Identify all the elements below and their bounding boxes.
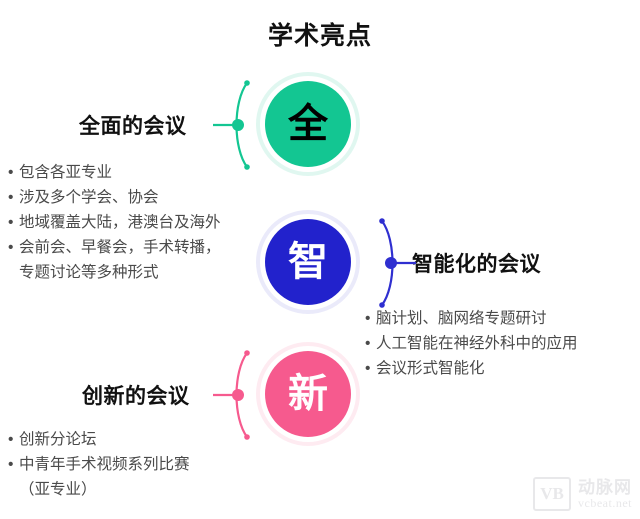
list-item-text: 地域覆盖大陆，港澳台及海外 bbox=[19, 214, 221, 231]
bullet-dot: • bbox=[8, 185, 19, 210]
list-item-text: 会前会、早餐会，手术转播， bbox=[19, 239, 221, 256]
bullet-list-innovative: •创新分论坛 •中青年手术视频系列比赛 （亚专业） bbox=[8, 427, 190, 502]
bullet-dot: • bbox=[8, 452, 19, 477]
section-label-innovative: 创新的会议 bbox=[82, 380, 190, 410]
watermark-brand-url: vcbeat.net bbox=[578, 497, 632, 510]
page-title: 学术亮点 bbox=[0, 16, 640, 52]
watermark-logo-icon: VB bbox=[533, 477, 571, 511]
list-item: •创新分论坛 bbox=[8, 427, 190, 452]
list-item-continuation: 专题讨论等多种形式 bbox=[8, 260, 221, 285]
list-item: •涉及多个学会、协会 bbox=[8, 185, 221, 210]
list-item-text: 创新分论坛 bbox=[19, 431, 97, 448]
list-item: •会议形式智能化 bbox=[365, 356, 578, 381]
list-item-text: 包含各亚专业 bbox=[19, 164, 112, 181]
infographic-canvas: 学术亮点 全 全面的会议 •包含各亚专业 •涉及多个学会、协会 •地域覆盖大陆，… bbox=[0, 0, 640, 519]
badge-glyph-intelligent: 智 bbox=[288, 242, 328, 282]
bullet-dot: • bbox=[365, 356, 376, 381]
badge-intelligent[interactable]: 智 bbox=[265, 219, 351, 305]
list-item-text: 中青年手术视频系列比赛 bbox=[19, 456, 190, 473]
bullet-dot: • bbox=[8, 235, 19, 260]
bullet-dot: • bbox=[365, 331, 376, 356]
bullet-list-intelligent: •脑计划、脑网络专题研讨 •人工智能在神经外科中的应用 •会议形式智能化 bbox=[365, 306, 578, 381]
badge-glyph-comprehensive: 全 bbox=[288, 104, 328, 144]
connector-innovative bbox=[213, 342, 271, 448]
list-item: •人工智能在神经外科中的应用 bbox=[365, 331, 578, 356]
list-item-text: 人工智能在神经外科中的应用 bbox=[376, 335, 578, 352]
connector-intelligent bbox=[358, 210, 416, 316]
list-item: •中青年手术视频系列比赛 bbox=[8, 452, 190, 477]
section-label-intelligent: 智能化的会议 bbox=[412, 248, 541, 278]
list-item-text: 专题讨论等多种形式 bbox=[19, 264, 159, 281]
list-item-text: （亚专业） bbox=[19, 481, 97, 498]
list-item: •会前会、早餐会，手术转播， bbox=[8, 235, 221, 260]
watermark: VB 动脉网 vcbeat.net bbox=[533, 477, 632, 511]
section-label-comprehensive: 全面的会议 bbox=[79, 110, 187, 140]
bullet-list-comprehensive: •包含各亚专业 •涉及多个学会、协会 •地域覆盖大陆，港澳台及海外 •会前会、早… bbox=[8, 160, 221, 285]
list-item: •地域覆盖大陆，港澳台及海外 bbox=[8, 210, 221, 235]
list-item-continuation: （亚专业） bbox=[8, 477, 190, 502]
badge-comprehensive[interactable]: 全 bbox=[265, 81, 351, 167]
watermark-text: 动脉网 vcbeat.net bbox=[578, 479, 632, 509]
list-item-text: 会议形式智能化 bbox=[376, 360, 485, 377]
badge-glyph-innovative: 新 bbox=[288, 374, 328, 414]
connector-comprehensive bbox=[213, 72, 271, 178]
bullet-dot: • bbox=[8, 210, 19, 235]
bullet-dot: • bbox=[8, 427, 19, 452]
watermark-brand-cn: 动脉网 bbox=[578, 479, 632, 497]
list-item: •包含各亚专业 bbox=[8, 160, 221, 185]
list-item-text: 涉及多个学会、协会 bbox=[19, 189, 159, 206]
badge-innovative[interactable]: 新 bbox=[265, 351, 351, 437]
bullet-dot: • bbox=[8, 160, 19, 185]
